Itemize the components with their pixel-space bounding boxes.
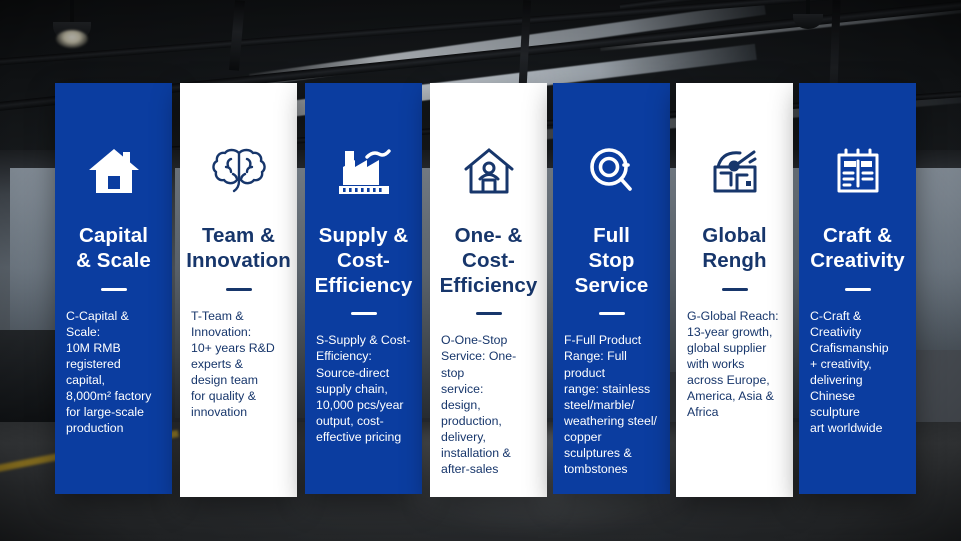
panel-one-cost-efficiency[interactable]: One- & Cost-Efficiency O-One-Stop Servic… [430,83,547,497]
panel-title: Capital & Scale [76,224,151,274]
title-divider [351,312,377,315]
panel-body-text: G-Global Reach: 13-year growth, global s… [685,308,784,421]
global-map-icon [706,140,764,202]
panel-body-text: S-Supply & Cost- Efficiency: Source-dire… [314,332,413,445]
title-divider [101,288,127,291]
panel-title: Full Stop Service [562,224,661,298]
title-divider [476,312,502,315]
panel-global-rengh[interactable]: Global Rengh G-Global Reach: 13-year gro… [676,83,793,497]
panel-body-text: T-Team & Innovation: 10+ years R&D exper… [189,308,288,421]
blueprint-icon [830,140,886,202]
panel-title: Team & Innovation [186,224,291,274]
panel-supply-cost-efficiency[interactable]: Supply & Cost-Efficiency S-Supply & Cost… [305,83,422,494]
house-person-icon [460,140,518,202]
panel-title: Craft & Creativity [810,224,904,274]
magnifier-circle-icon [584,140,640,202]
title-divider [226,288,252,291]
panel-title: Supply & Cost-Efficiency [314,224,413,298]
panel-capital-scale[interactable]: Capital & Scale C-Capital & Scale: 10M R… [55,83,172,494]
slide-canvas: Capital & Scale C-Capital & Scale: 10M R… [0,0,961,541]
panel-title: One- & Cost-Efficiency [439,224,538,298]
panel-team-innovation[interactable]: Team & Innovation T-Team & Innovation: 1… [180,83,297,497]
factory-icon [333,140,395,202]
panel-body-text: F-Full Product Range: Full product range… [562,332,661,477]
title-divider [845,288,871,291]
panel-row: Capital & Scale C-Capital & Scale: 10M R… [0,0,961,541]
panel-body-text: C-Craft & Creativity Crafismanship + cre… [808,308,907,437]
panel-body-text: O-One-Stop Service: One-stop service: de… [439,332,538,477]
house-icon [85,140,143,202]
brain-icon [209,140,269,202]
panel-full-stop-service[interactable]: Full Stop Service F-Full Product Range: … [553,83,670,494]
title-divider [722,288,748,291]
panel-craft-creativity[interactable]: Craft & Creativity C-Craft & Creativity … [799,83,916,494]
title-divider [599,312,625,315]
panel-title: Global Rengh [702,224,766,274]
panel-body-text: C-Capital & Scale: 10M RMB registered ca… [64,308,163,437]
